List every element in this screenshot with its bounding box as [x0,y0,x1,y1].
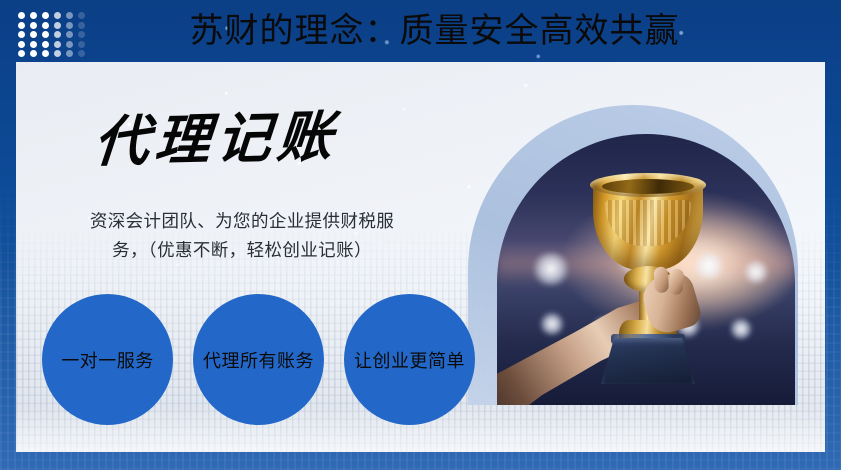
feature-circle-1[interactable]: 一对一服务 [42,294,173,425]
header-bar: 苏财的理念：质量安全高效共赢 [0,0,841,62]
finger-graphic [668,268,684,295]
trophy-base [601,338,695,384]
stadium-light-icon [729,318,753,340]
headline-text: 代理记账 [91,100,341,178]
stadium-light-icon [531,252,571,286]
feature-circle-3-label: 让创业更简单 [354,347,465,373]
finger-graphic [653,266,669,293]
stadium-light-icon [743,260,769,284]
feature-circle-1-label: 一对一服务 [61,347,154,373]
feature-circle-2[interactable]: 代理所有账务 [193,294,324,425]
subtitle-line-1: 资深会计团队、为您的企业提供财税服 [56,208,428,237]
trophy-inner-shadow [602,179,694,194]
feature-circle-3[interactable]: 让创业更简单 [344,294,475,425]
stadium-light-icon [539,312,565,336]
page-title: 苏财的理念：质量安全高效共赢 [0,8,841,54]
subtitle-line-2: 务，（优惠不断，轻松创业记账） [56,237,428,266]
slide-canvas: 苏财的理念：质量安全高效共赢 代理记账 资深会计团队、为您的企业提供财税服 务，… [0,0,841,470]
subtitle-block: 资深会计团队、为您的企业提供财税服 务，（优惠不断，轻松创业记账） [56,208,428,266]
feature-circle-2-label: 代理所有账务 [203,347,314,373]
